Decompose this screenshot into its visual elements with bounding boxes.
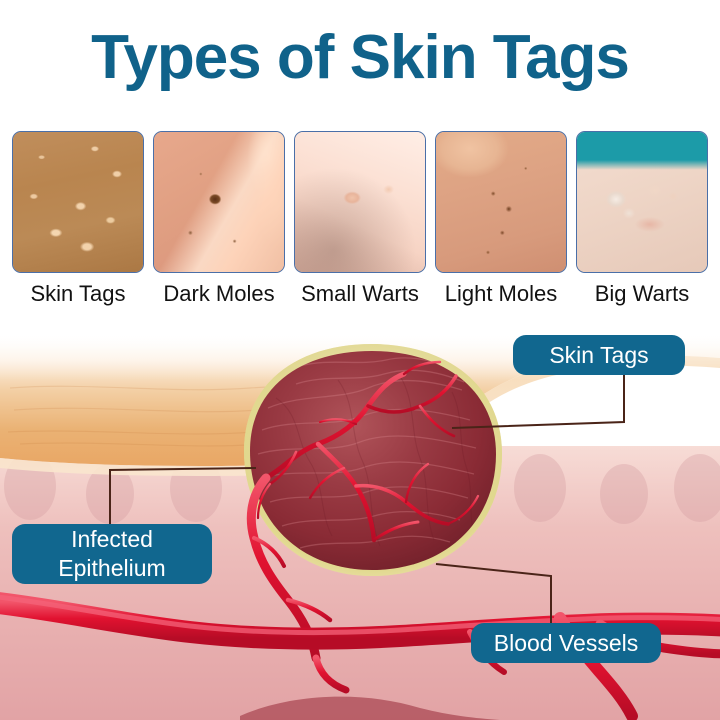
- thumbnail-strip: Skin Tags Dark Moles Small Warts Light M…: [12, 131, 708, 311]
- callout-infected-epithelium[interactable]: Infected Epithelium: [12, 524, 212, 584]
- thumbnail-label: Big Warts: [595, 280, 690, 308]
- thumbnail-item-big-warts[interactable]: Big Warts: [576, 131, 708, 311]
- thumbnail-frame: [153, 131, 285, 273]
- skin-tags-photo: [13, 132, 143, 272]
- thumbnail-item-dark-moles[interactable]: Dark Moles: [153, 131, 285, 311]
- thumbnail-frame: [12, 131, 144, 273]
- dark-moles-photo: [154, 132, 284, 272]
- big-warts-photo: [577, 132, 707, 272]
- thumbnail-label: Light Moles: [445, 280, 558, 308]
- thumbnail-label: Small Warts: [301, 280, 419, 308]
- callout-blood-vessels[interactable]: Blood Vessels: [471, 623, 661, 663]
- thumbnail-frame: [435, 131, 567, 273]
- infographic-page: Types of Skin Tags Skin Tags Dark Moles …: [0, 0, 720, 720]
- small-warts-photo: [295, 132, 425, 272]
- light-moles-photo: [436, 132, 566, 272]
- thumbnail-frame: [294, 131, 426, 273]
- thumbnail-item-light-moles[interactable]: Light Moles: [435, 131, 567, 311]
- thumbnail-item-skin-tags[interactable]: Skin Tags: [12, 131, 144, 311]
- thumbnail-item-small-warts[interactable]: Small Warts: [294, 131, 426, 311]
- thumbnail-frame: [576, 131, 708, 273]
- thumbnail-label: Dark Moles: [163, 280, 274, 308]
- thumbnail-label: Skin Tags: [31, 280, 126, 308]
- page-title: Types of Skin Tags: [0, 22, 720, 94]
- skin-tag-lesion: [244, 344, 502, 576]
- callout-skin-tags[interactable]: Skin Tags: [513, 335, 685, 375]
